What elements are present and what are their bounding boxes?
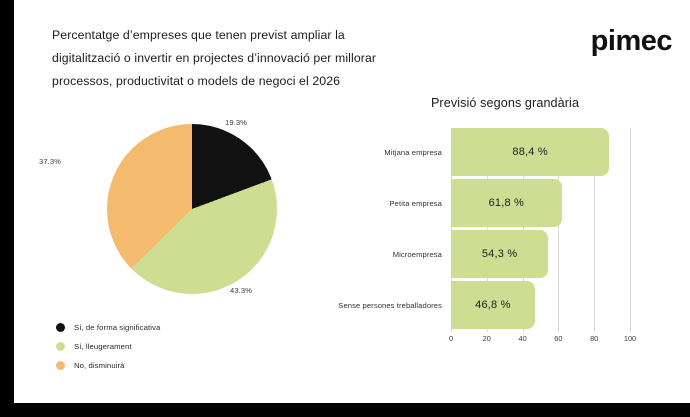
legend-swatch-icon — [56, 342, 65, 351]
pie-label-significativa: 19.3% — [225, 118, 247, 127]
bar: 61,8 % — [451, 179, 562, 227]
legend-item-label: Sí, de forma significativa — [74, 323, 160, 332]
x-axis-tick-label: 20 — [483, 334, 491, 343]
bar-row: Mitjana empresa88,4 % — [451, 128, 609, 176]
bar-category-label: Sense persones treballadores — [338, 281, 442, 329]
bar-row: Microempresa54,3 % — [451, 230, 548, 278]
pie-chart-graphic — [107, 124, 277, 294]
legend-swatch-icon — [56, 361, 65, 370]
gridline — [630, 128, 631, 332]
pie-label-disminuira: 37.3% — [39, 157, 61, 166]
legend-item-label: No, disminuirà — [74, 361, 125, 370]
legend-item-significativa: Sí, de forma significativa — [56, 318, 160, 337]
bar: 54,3 % — [451, 230, 548, 278]
x-axis-tick-label: 80 — [590, 334, 598, 343]
legend-item-label: Sí, lleugerament — [74, 342, 132, 351]
bar: 88,4 % — [451, 128, 609, 176]
pie-label-lleugerament: 43.3% — [230, 286, 252, 295]
slide-canvas: Percentatge d’empreses que tenen previst… — [14, 0, 690, 403]
bar-value-label: 54,3 % — [482, 248, 517, 260]
x-axis-tick-label: 60 — [554, 334, 562, 343]
bar-chart-plot-area: Mitjana empresa88,4 %Petita empresa61,8 … — [451, 128, 630, 332]
legend-item-disminuira: No, disminuirà — [56, 356, 160, 375]
bar-row: Sense persones treballadores46,8 % — [451, 281, 535, 329]
bar-category-label: Mitjana empresa — [384, 128, 442, 176]
x-axis-tick-label: 100 — [624, 334, 636, 343]
bar: 46,8 % — [451, 281, 535, 329]
x-axis-tick-label: 40 — [518, 334, 526, 343]
bar-category-label: Microempresa — [393, 230, 442, 278]
x-axis-tick-label: 0 — [449, 334, 453, 343]
bar-chart: Previsió segons grandària Mitjana empres… — [330, 96, 680, 366]
bar-category-label: Petita empresa — [390, 179, 442, 227]
bar-value-label: 46,8 % — [475, 299, 510, 311]
legend-swatch-icon — [56, 323, 65, 332]
bar-chart-title: Previsió segons grandària — [330, 96, 680, 110]
legend-item-lleugerament: Sí, lleugerament — [56, 337, 160, 356]
bar-chart-x-axis: 020406080100 — [451, 334, 630, 348]
pimec-logo: pimec — [591, 27, 672, 56]
bar-value-label: 88,4 % — [512, 146, 547, 158]
page-title: Percentatge d’empreses que tenen previst… — [52, 24, 412, 93]
bar-value-label: 61,8 % — [489, 197, 524, 209]
pie-chart: 19.3% 43.3% 37.3% Sí, de forma significa… — [14, 96, 344, 396]
bar-row: Petita empresa61,8 % — [451, 179, 562, 227]
pie-legend: Sí, de forma significativa Sí, lleugeram… — [56, 318, 160, 375]
